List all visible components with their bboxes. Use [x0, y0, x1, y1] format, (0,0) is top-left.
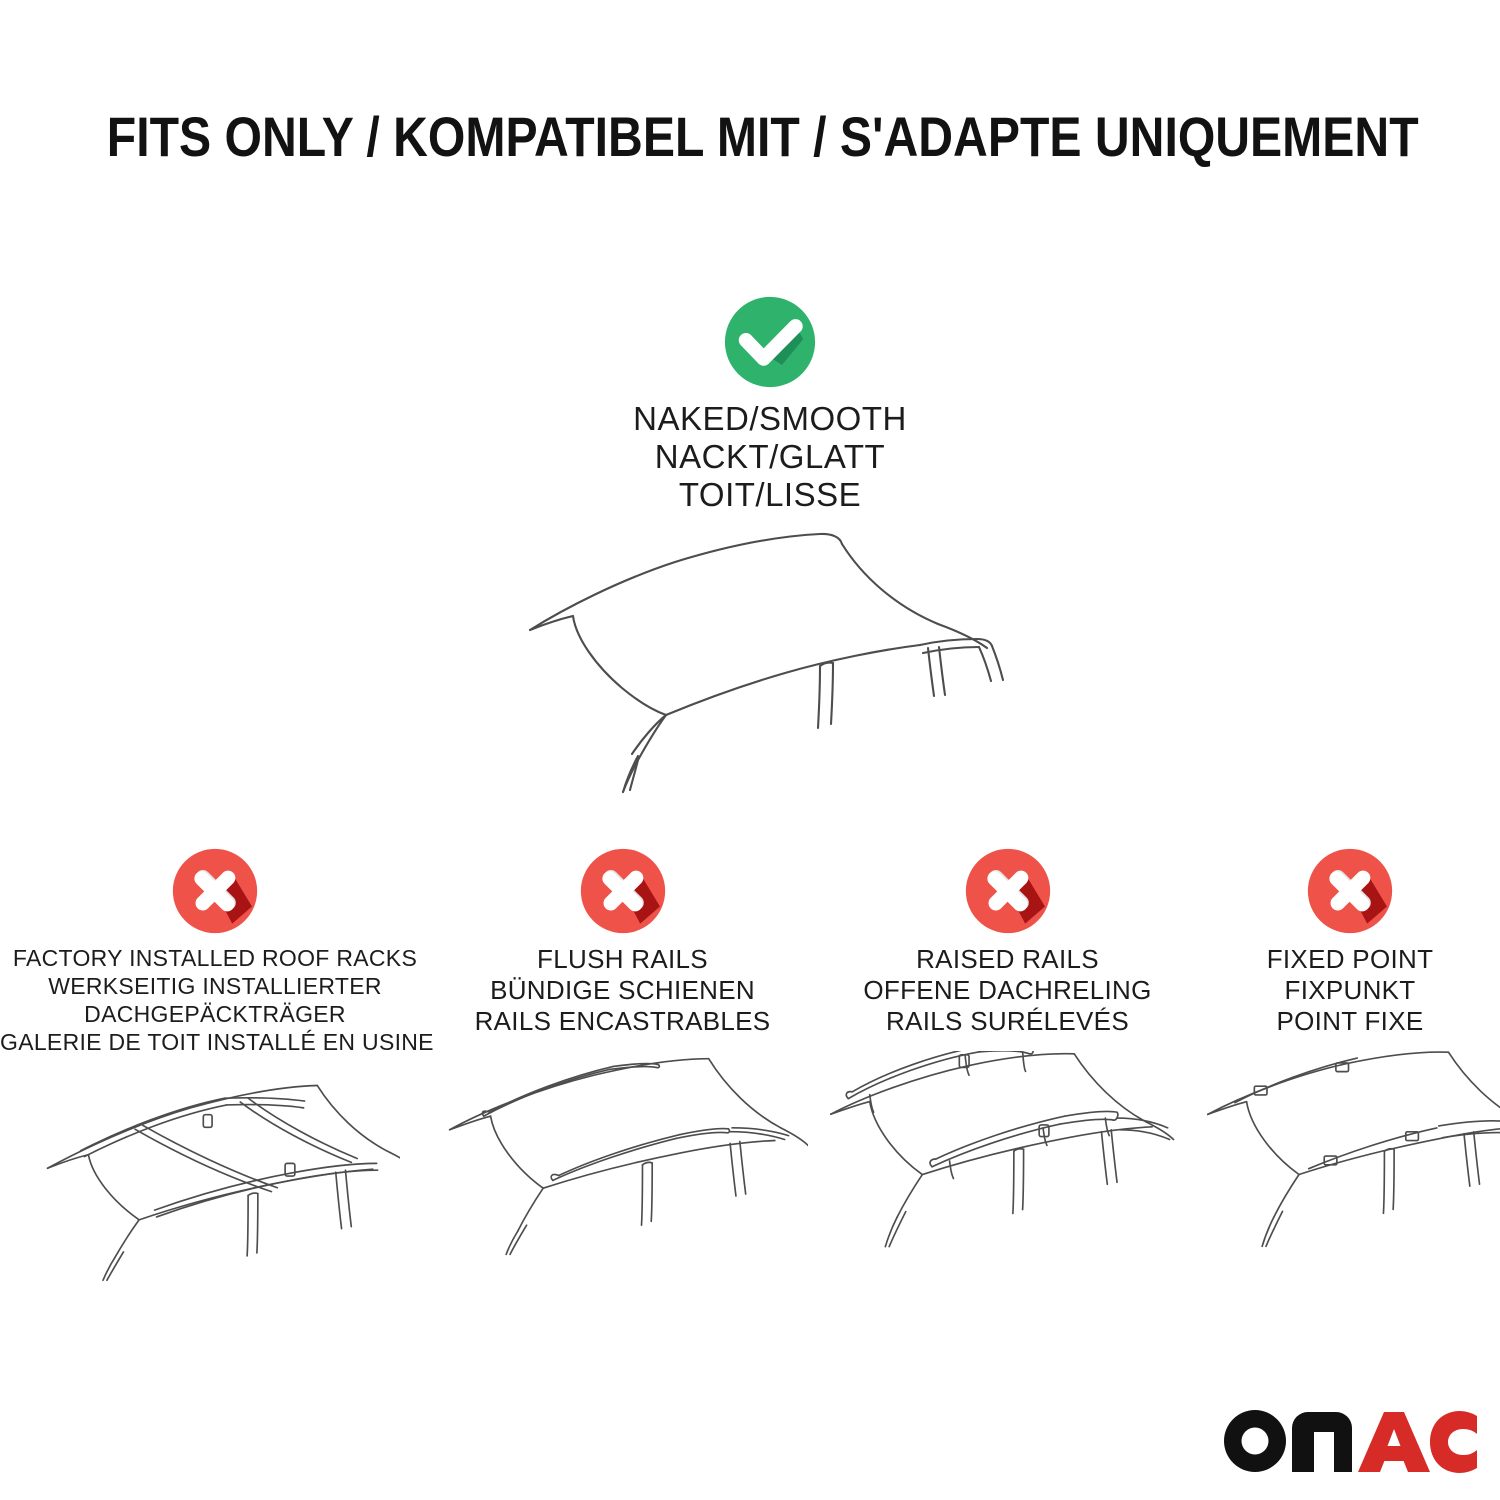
rejected-label-fr: RAILS ENCASTRABLES [430, 1006, 815, 1037]
rejected-label-en: FIXED POINT [1200, 944, 1500, 975]
approved-roof-type: NAKED/SMOOTH NACKT/GLATT TOIT/LISSE [375, 296, 1165, 514]
car-roof-raised-rails-illustration [815, 1051, 1200, 1266]
rejected-label-de: FIXPUNKT [1200, 975, 1500, 1006]
rejected-label-fr: GALERIE DE TOIT INSTALLÉ EN USINE [0, 1028, 430, 1056]
rejected-label-en: RAISED RAILS [815, 944, 1200, 975]
page-title: FITS ONLY / KOMPATIBEL MIT / S'ADAPTE UN… [0, 104, 1500, 169]
rejected-labels: FIXED POINT FIXPUNKT POINT FIXE [1200, 944, 1500, 1037]
rejected-type-factory-installed-roof-racks: FACTORY INSTALLED ROOF RACKS WERKSEITIG … [0, 848, 430, 1285]
rejected-type-flush-rails: FLUSH RAILS BÜNDIGE SCHIENEN RAILS ENCAS… [430, 848, 815, 1266]
omac-logo-mark [1222, 1408, 1480, 1474]
red-x-icon [965, 848, 1051, 934]
rejected-label-fr: RAILS SURÉLEVÉS [815, 1006, 1200, 1037]
car-roof-naked-smooth-illustration [490, 520, 1030, 800]
approved-label-de: NACKT/GLATT [375, 438, 1165, 476]
car-roof-flush-rails-illustration [430, 1051, 815, 1266]
rejected-type-raised-rails: RAISED RAILS OFFENE DACHRELING RAILS SUR… [815, 848, 1200, 1266]
rejected-label-de-2: DACHGEPÄCKTRÄGER [0, 1000, 430, 1028]
rejected-label-de: OFFENE DACHRELING [815, 975, 1200, 1006]
approved-label-en: NAKED/SMOOTH [375, 400, 1165, 438]
red-x-icon [580, 848, 666, 934]
rejected-roof-types: FACTORY INSTALLED ROOF RACKS WERKSEITIG … [0, 848, 1500, 1285]
rejected-label-en: FACTORY INSTALLED ROOF RACKS [0, 944, 430, 972]
rejected-label-de-1: WERKSEITIG INSTALLIERTER [0, 972, 430, 1000]
rejected-labels: FLUSH RAILS BÜNDIGE SCHIENEN RAILS ENCAS… [430, 944, 815, 1037]
approved-labels: NAKED/SMOOTH NACKT/GLATT TOIT/LISSE [375, 400, 1165, 514]
page-title-text: FITS ONLY / KOMPATIBEL MIT / S'ADAPTE UN… [107, 104, 1419, 169]
rejected-labels: FACTORY INSTALLED ROOF RACKS WERKSEITIG … [0, 944, 430, 1056]
approved-label-fr: TOIT/LISSE [375, 476, 1165, 514]
rejected-type-fixed-point: FIXED POINT FIXPUNKT POINT FIXE [1200, 848, 1500, 1266]
car-roof-fixed-point-illustration [1200, 1051, 1500, 1266]
red-x-icon [172, 848, 258, 934]
red-x-icon [1307, 848, 1393, 934]
rejected-labels: RAISED RAILS OFFENE DACHRELING RAILS SUR… [815, 944, 1200, 1037]
car-roof-factory-installed-racks-illustration [0, 1070, 430, 1285]
rejected-label-de: BÜNDIGE SCHIENEN [430, 975, 815, 1006]
omac-logo [1222, 1408, 1480, 1474]
green-check-icon [724, 296, 816, 388]
rejected-label-fr: POINT FIXE [1200, 1006, 1500, 1037]
rejected-label-en: FLUSH RAILS [430, 944, 815, 975]
